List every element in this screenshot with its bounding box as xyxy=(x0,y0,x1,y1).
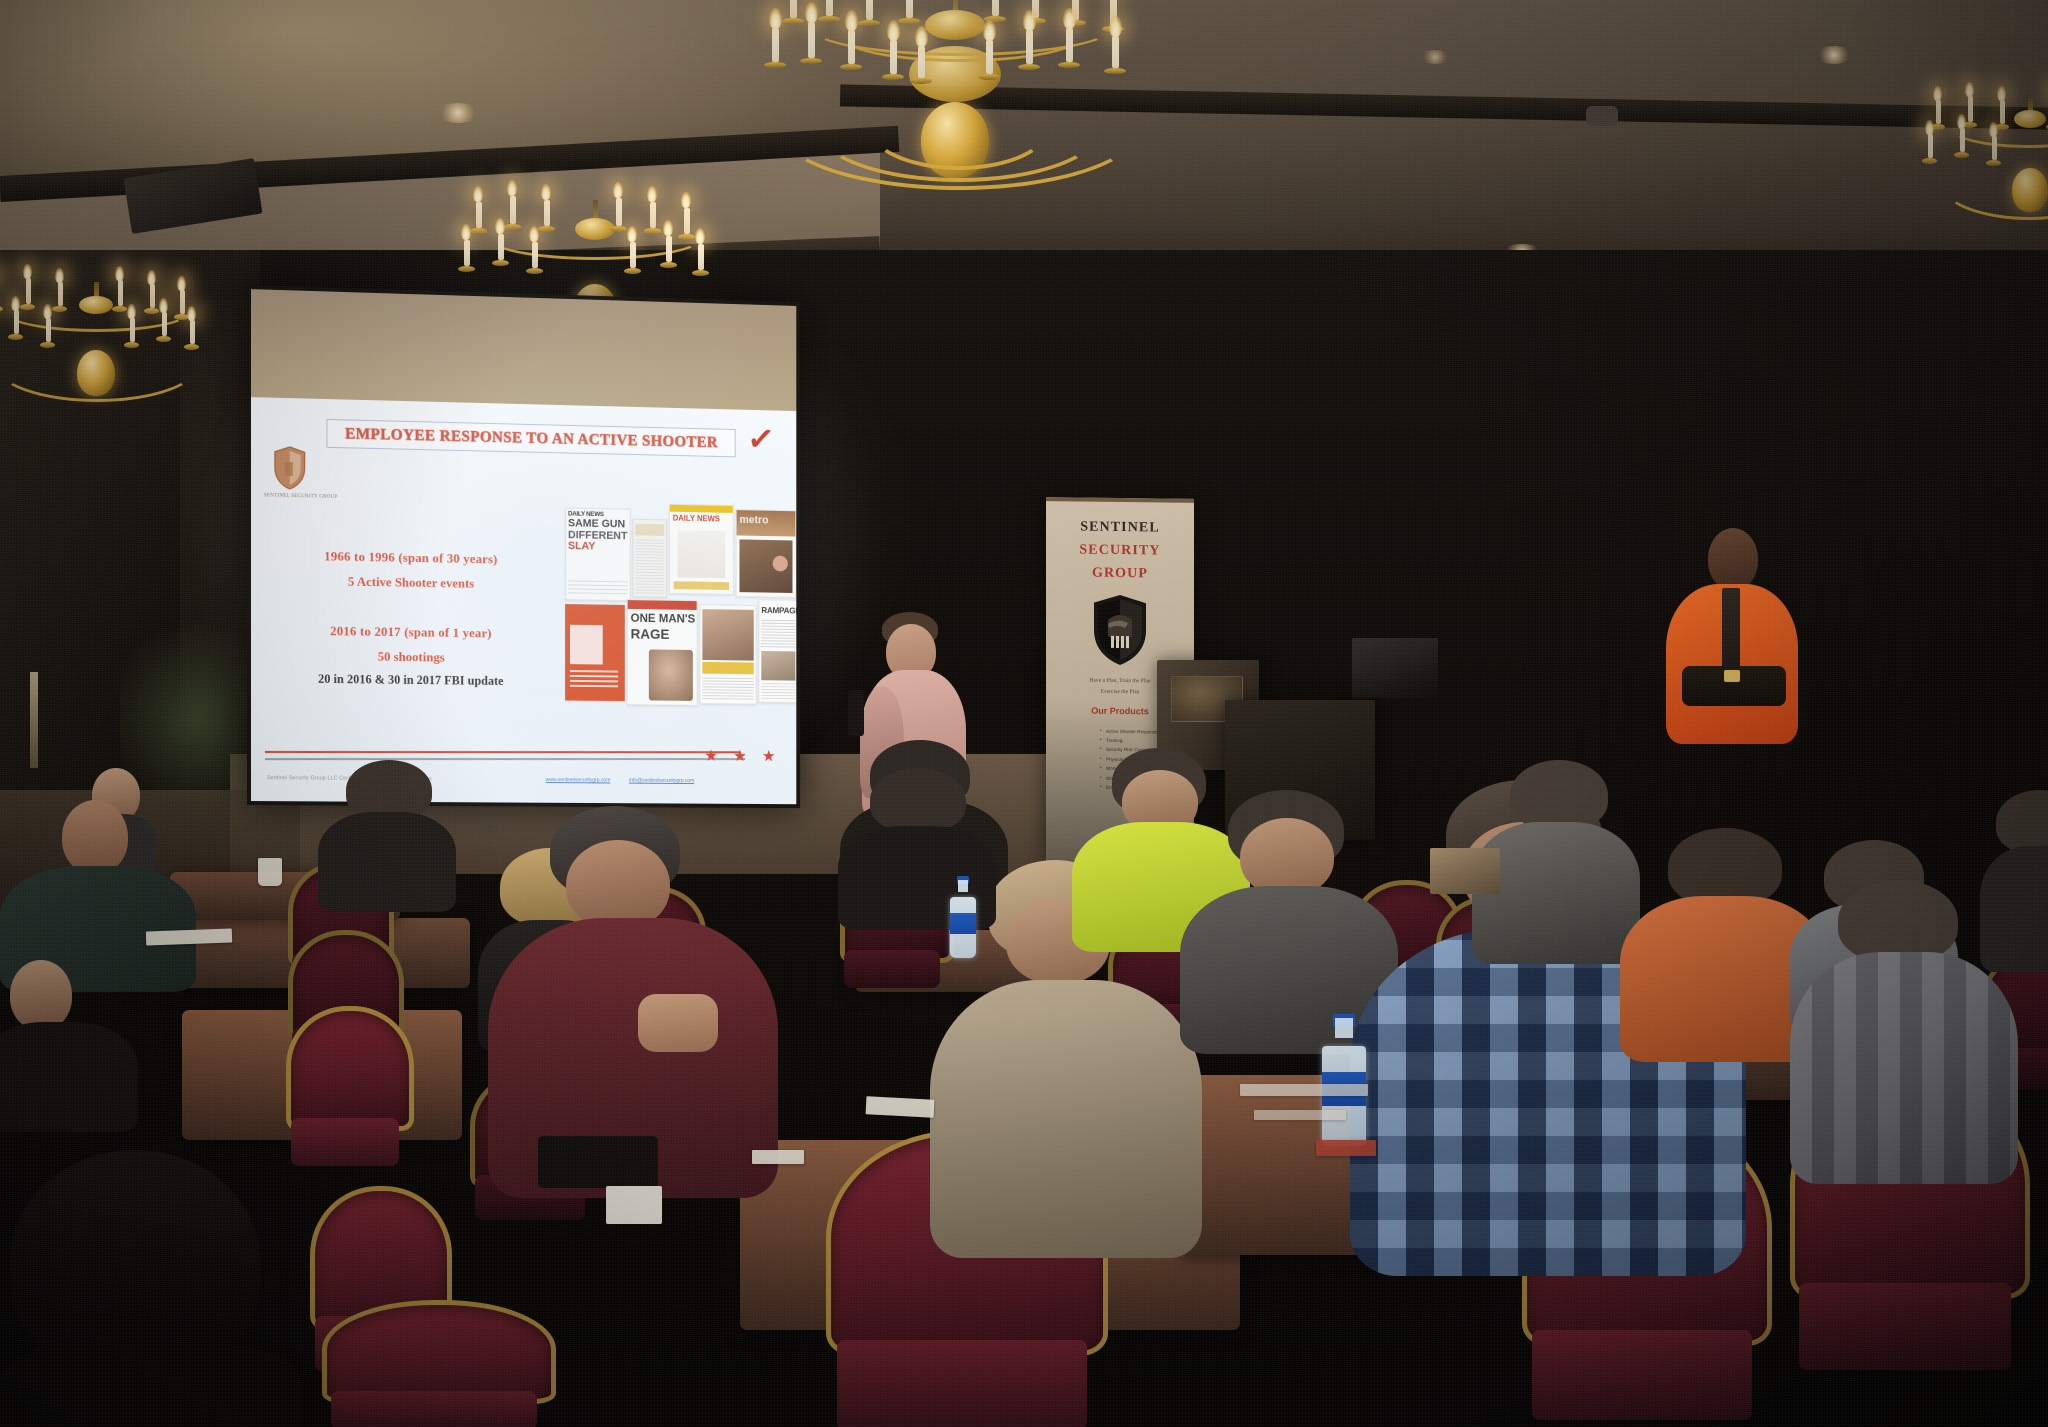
audience-member-left-back-row xyxy=(318,760,458,910)
audience-torso xyxy=(930,980,1202,1258)
coaster-red xyxy=(1316,1140,1376,1156)
chair-back xyxy=(286,1006,414,1131)
newspaper-daily-news-2: DAILY NEWS xyxy=(669,504,734,595)
stat-2-line-1: 2016 to 2017 (span of 1 year) xyxy=(257,622,563,642)
audience-badge xyxy=(606,1186,662,1224)
chair-seat xyxy=(1799,1283,2011,1370)
footer-rule-red xyxy=(265,751,740,754)
audience-member-foreground-dark-hair xyxy=(0,1150,300,1427)
audience-hair xyxy=(10,1150,260,1370)
banner-line-1: SENTINEL xyxy=(1046,519,1194,537)
audience-hair xyxy=(1996,790,2048,854)
stat-block-1: 1966 to 1996 (span of 30 years) 5 Active… xyxy=(263,547,557,593)
newspaper-orange-5 xyxy=(565,604,625,701)
bottle-label xyxy=(950,913,976,934)
presentation-slide: SENTINEL SECURITY GROUP EMPLOYEE RESPONS… xyxy=(251,397,796,804)
audience-member-far-right-edge xyxy=(1980,790,2048,970)
newspaper-daily-news-same-gun: DAILY NEWS SAME GUN DIFFERENT SLAY xyxy=(565,508,631,602)
audience-hair xyxy=(1838,880,1958,962)
recessed-light-4 xyxy=(1420,50,1450,64)
chandelier-far-right xyxy=(1940,98,2048,248)
audience-torso xyxy=(1790,952,2018,1184)
newspaper-one-mans-rage: ONE MAN'S RAGE xyxy=(627,599,698,706)
stat-1-line-1: 1966 to 1996 (span of 30 years) xyxy=(263,547,557,568)
audience-member-maroon-sweater xyxy=(488,806,788,1206)
audience-hair xyxy=(346,760,432,820)
recessed-light-2 xyxy=(1816,46,1852,64)
footer-stars: ★ ★ ★ xyxy=(704,746,781,766)
audience-torso xyxy=(1980,846,2048,972)
water-bottle-1[interactable] xyxy=(950,880,976,958)
bottle-body xyxy=(1322,1046,1366,1146)
audience-belt-pouch xyxy=(538,1136,658,1188)
slide-logo-caption: SENTINEL SECURITY GROUP xyxy=(259,493,342,513)
cup-front-left[interactable] xyxy=(258,858,282,886)
audience-torso xyxy=(0,1340,300,1427)
conference-room-scene: SENTINEL SECURITY GROUP EMPLOYEE RESPONS… xyxy=(0,0,2048,1427)
newspaper-rampage: RAMPAGE xyxy=(758,599,796,703)
sentinel-shield-logo-icon xyxy=(273,446,307,491)
slide-title-banner: EMPLOYEE RESPONSE TO AN ACTIVE SHOOTER xyxy=(326,419,735,457)
chair-seat xyxy=(837,1340,1087,1427)
knight-helmet-shield-icon xyxy=(1092,594,1148,667)
audience-head xyxy=(566,840,670,930)
chandelier-far-left xyxy=(0,282,202,412)
banner-line-2: SECURITY xyxy=(1046,542,1194,560)
stat-2-line-3: 20 in 2016 & 30 in 2017 FBI update xyxy=(257,671,563,690)
water-bottle-2[interactable] xyxy=(1322,1018,1366,1146)
audience-hands xyxy=(638,994,718,1052)
stat-1-line-2: 5 Active Shooter events xyxy=(263,572,557,593)
audience-head xyxy=(1240,818,1334,896)
np-masthead-4: metro xyxy=(739,514,768,526)
stat-block-2: 2016 to 2017 (span of 1 year) 50 shootin… xyxy=(257,622,563,689)
projection-screen[interactable]: SENTINEL SECURITY GROUP EMPLOYEE RESPONS… xyxy=(247,285,800,808)
ceiling-sensor xyxy=(1586,106,1618,126)
chair-seat xyxy=(844,950,940,988)
audience-member-left-dark xyxy=(0,960,140,1130)
np-headline-1c: SLAY xyxy=(566,541,630,553)
np-headline-6a: ONE MAN'S xyxy=(631,612,696,625)
audience-hair xyxy=(1668,828,1782,906)
chair-seat xyxy=(1532,1330,1753,1420)
handout-paper-2[interactable] xyxy=(866,1096,935,1118)
chair-left-5[interactable] xyxy=(322,1300,546,1427)
slide-title-text: EMPLOYEE RESPONSE TO AN ACTIVE SHOOTER xyxy=(345,425,718,452)
chair-seat xyxy=(291,1118,400,1166)
standing-attendee-orange-shirt xyxy=(1662,528,1802,754)
audience-hair xyxy=(1510,760,1608,830)
checkmark-icon: ✓ xyxy=(745,424,773,460)
bottle-body xyxy=(950,897,976,958)
chair-back xyxy=(322,1300,556,1404)
side-table-box xyxy=(1430,848,1500,894)
footer-link-email[interactable]: info@sentinelsecuritygrp.com xyxy=(629,778,694,784)
newspaper-collage: DAILY NEWS SAME GUN DIFFERENT SLAY DAILY… xyxy=(565,500,794,709)
audience-head xyxy=(10,960,72,1030)
slide-footer-links[interactable]: www.sentinelsecuritygrp.com info@sentine… xyxy=(546,777,712,784)
confidence-monitor xyxy=(1352,638,1438,698)
np-masthead-3: DAILY NEWS xyxy=(673,514,720,524)
handout-paper-4[interactable] xyxy=(1240,1084,1368,1096)
chandelier-center xyxy=(770,0,1140,204)
audience-torso xyxy=(318,812,456,912)
recessed-light-1 xyxy=(437,103,479,123)
banner-line-3: GROUP xyxy=(1046,565,1194,583)
handout-paper-3[interactable] xyxy=(752,1150,804,1164)
attendee-watch xyxy=(1724,670,1740,682)
newspaper-photo-7 xyxy=(700,604,757,704)
audience-head xyxy=(62,800,128,874)
chair-left-3[interactable] xyxy=(286,1006,404,1166)
np-headline-6b: RAGE xyxy=(631,627,670,641)
chair-seat xyxy=(331,1391,537,1427)
audience-hair xyxy=(870,768,966,832)
attendee-head xyxy=(1708,528,1758,590)
newspaper-generic-2 xyxy=(633,519,668,598)
screen-blank-area xyxy=(251,289,796,413)
handout-paper-1[interactable] xyxy=(146,929,232,946)
wall-sconce-strip xyxy=(30,672,38,768)
newspaper-metro: metro xyxy=(736,509,797,598)
handout-paper-5[interactable] xyxy=(1254,1110,1346,1120)
microphone-icon xyxy=(848,690,864,736)
audience-torso xyxy=(0,1022,138,1132)
np-masthead-8: RAMPAGE xyxy=(761,605,796,615)
bottle-neck xyxy=(958,880,968,892)
stat-2-line-2: 50 shootings xyxy=(257,647,563,667)
banner-top-rail xyxy=(1046,497,1194,503)
bottle-neck xyxy=(1335,1018,1353,1038)
footer-link-website[interactable]: www.sentinelsecuritygrp.com xyxy=(546,777,611,783)
